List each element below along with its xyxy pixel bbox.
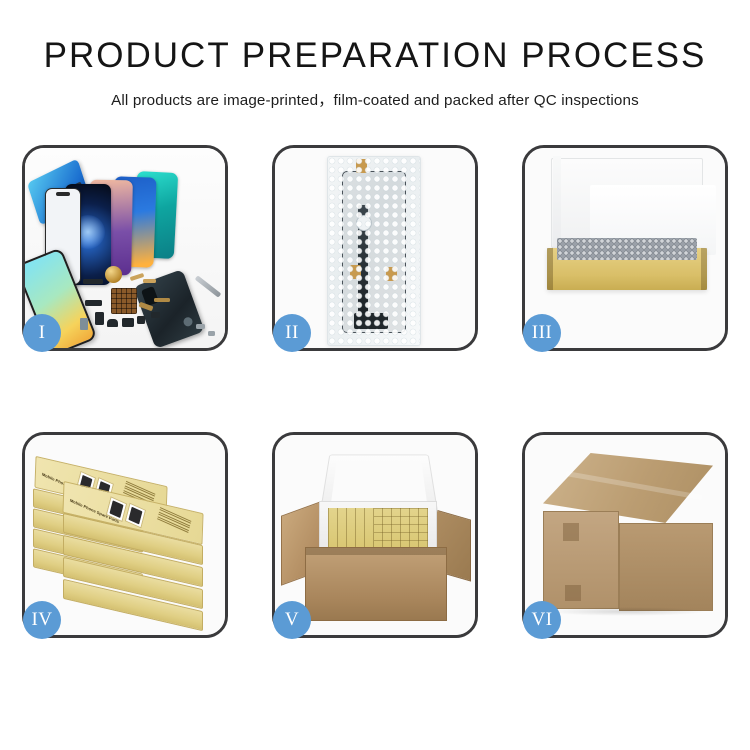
page-subtitle: All products are image-printed，film-coat… (0, 88, 750, 110)
process-step-5[interactable]: V (272, 432, 478, 638)
packing-tape (565, 585, 581, 601)
page-title: PRODUCT PREPARATION PROCESS (0, 38, 750, 73)
step-4-image: Mobile Phone Spare Parts Mobile Phone Sp… (25, 435, 225, 635)
small-part (122, 318, 134, 327)
logic-board-chip (111, 288, 137, 314)
small-part (208, 331, 215, 336)
step-5-image (275, 435, 475, 635)
process-step-6[interactable]: VI (522, 432, 728, 638)
process-row-2: Mobile Phone Spare Parts Mobile Phone Sp… (0, 432, 750, 638)
small-part (137, 316, 145, 324)
bubble-texture (328, 157, 420, 345)
step-6-image (525, 435, 725, 635)
kraft-tray (547, 248, 707, 290)
small-part (151, 312, 160, 318)
kraft-boxes-inside (328, 508, 428, 550)
small-part (95, 312, 104, 325)
step-badge-4: IV (23, 601, 61, 639)
step-3-image (525, 148, 725, 348)
process-step-4[interactable]: Mobile Phone Spare Parts Mobile Phone Sp… (22, 432, 228, 638)
small-part (85, 300, 102, 306)
page-header: PRODUCT PREPARATION PROCESS All products… (0, 0, 750, 110)
box-side-wall (553, 156, 561, 248)
small-part (154, 298, 170, 302)
step-badge-6: VI (523, 601, 561, 639)
step-badge-5: V (273, 601, 311, 639)
small-part (80, 318, 88, 330)
small-part (196, 324, 205, 329)
bubble-wrap-bag (327, 156, 421, 346)
process-step-1[interactable]: I (22, 145, 228, 351)
vibration-motor-part (105, 266, 122, 283)
kraft-box-stack: Mobile Phone Spare Parts Mobile Phone Sp… (33, 453, 221, 621)
white-box-lid (551, 158, 703, 248)
step-badge-1: I (23, 314, 61, 352)
box-window (125, 503, 146, 529)
process-step-grid: I II (0, 145, 750, 638)
step-2-image (275, 148, 475, 348)
step-badge-3: III (523, 314, 561, 352)
packing-tape (563, 523, 579, 541)
process-step-3[interactable]: III (522, 145, 728, 351)
carton-right-face (619, 523, 713, 611)
step-badge-2: II (273, 314, 311, 352)
gray-bubble-foam (557, 238, 697, 260)
step-1-image (25, 148, 225, 348)
small-part (107, 319, 118, 327)
carton-front-panel (305, 547, 447, 621)
carton-left-face (543, 511, 619, 609)
small-part (83, 279, 103, 284)
process-step-2[interactable]: II (272, 145, 478, 351)
process-row-1: I II (0, 145, 750, 351)
carton-shadow (547, 607, 707, 616)
box-spec-lines (157, 507, 192, 534)
small-part (143, 279, 156, 283)
